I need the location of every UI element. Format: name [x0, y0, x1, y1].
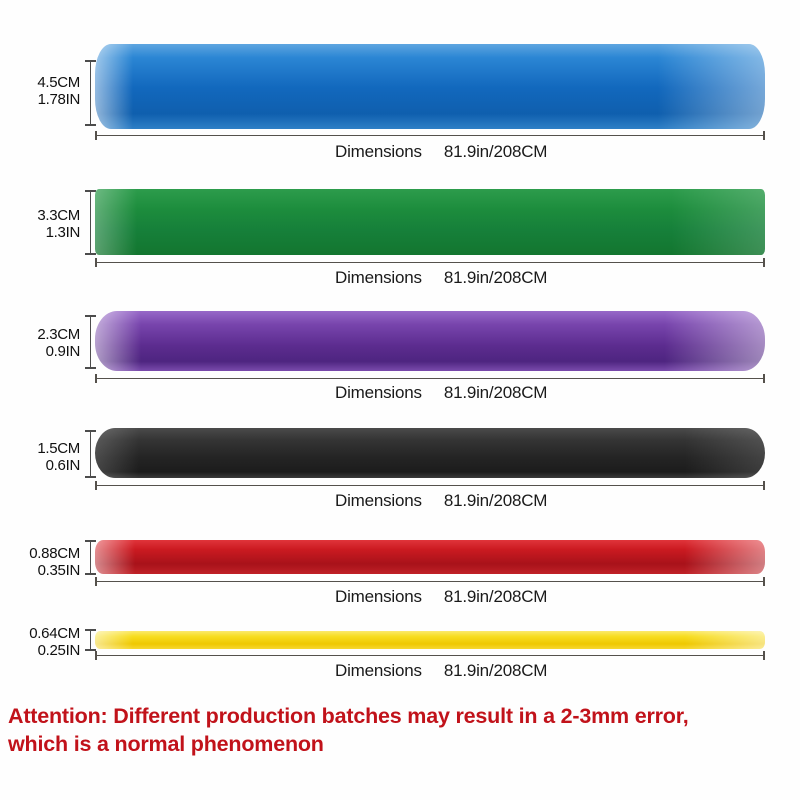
- length-caption-green: Dimensions81.9in/208CM: [335, 268, 547, 288]
- band-row-red: 0.88CM 0.35IN Dimensions81.9in/208CM: [0, 520, 800, 618]
- length-caption-label-red: Dimensions: [335, 587, 422, 606]
- length-caption-label-blue: Dimensions: [335, 142, 422, 161]
- thickness-cm-blue: 4.5CM: [8, 75, 80, 92]
- length-caption-label-purple: Dimensions: [335, 383, 422, 402]
- length-caption-value-black: 81.9in/208CM: [444, 491, 547, 510]
- length-caption-purple: Dimensions81.9in/208CM: [335, 383, 547, 403]
- attention-line-1: Attention: Different production batches …: [8, 702, 798, 730]
- thickness-label-blue: 4.5CM 1.78IN: [8, 75, 80, 109]
- thickness-in-blue: 1.78IN: [8, 92, 80, 109]
- band-row-green: 3.3CM 1.3IN Dimensions81.9in/208CM: [0, 175, 800, 295]
- band-graphic-blue: [95, 44, 765, 129]
- thickness-label-red: 0.88CM 0.35IN: [0, 546, 80, 580]
- band-row-blue: 4.5CM 1.78IN Dimensions81.9in/208CM: [0, 0, 800, 175]
- length-caliper-yellow: [95, 651, 765, 660]
- band-graphic-yellow: [95, 631, 765, 649]
- thickness-cm-green: 3.3CM: [8, 208, 80, 225]
- length-caption-blue: Dimensions81.9in/208CM: [335, 142, 547, 162]
- length-caption-label-green: Dimensions: [335, 268, 422, 287]
- length-caliper-green: [95, 258, 765, 267]
- thickness-cm-purple: 2.3CM: [8, 327, 80, 344]
- thickness-in-red: 0.35IN: [0, 563, 80, 580]
- thickness-in-green: 1.3IN: [8, 225, 80, 242]
- thickness-in-yellow: 0.25IN: [0, 643, 80, 660]
- thickness-label-black: 1.5CM 0.6IN: [8, 441, 80, 475]
- length-caliper-purple: [95, 374, 765, 383]
- thickness-cm-black: 1.5CM: [8, 441, 80, 458]
- thickness-label-purple: 2.3CM 0.9IN: [8, 327, 80, 361]
- length-caliper-black: [95, 481, 765, 490]
- attention-line-2: which is a normal phenomenon: [8, 730, 798, 758]
- band-row-yellow: 0.64CM 0.25IN Dimensions81.9in/208CM: [0, 618, 800, 702]
- band-graphic-black: [95, 428, 765, 478]
- length-caliper-red: [95, 577, 765, 586]
- thickness-label-yellow: 0.64CM 0.25IN: [0, 626, 80, 660]
- thickness-label-green: 3.3CM 1.3IN: [8, 208, 80, 242]
- thickness-cm-yellow: 0.64CM: [0, 626, 80, 643]
- length-caption-value-yellow: 81.9in/208CM: [444, 661, 547, 680]
- thickness-in-black: 0.6IN: [8, 458, 80, 475]
- length-caption-value-blue: 81.9in/208CM: [444, 142, 547, 161]
- band-row-black: 1.5CM 0.6IN Dimensions81.9in/208CM: [0, 410, 800, 520]
- size-chart-canvas: 4.5CM 1.78IN Dimensions81.9in/208CM 3.3C…: [0, 0, 800, 800]
- length-caption-black: Dimensions81.9in/208CM: [335, 491, 547, 511]
- band-row-purple: 2.3CM 0.9IN Dimensions81.9in/208CM: [0, 295, 800, 410]
- length-caption-red: Dimensions81.9in/208CM: [335, 587, 547, 607]
- length-caption-value-red: 81.9in/208CM: [444, 587, 547, 606]
- length-caption-yellow: Dimensions81.9in/208CM: [335, 661, 547, 681]
- length-caliper-blue: [95, 131, 765, 140]
- thickness-in-purple: 0.9IN: [8, 344, 80, 361]
- length-caption-value-purple: 81.9in/208CM: [444, 383, 547, 402]
- length-caption-label-yellow: Dimensions: [335, 661, 422, 680]
- length-caption-value-green: 81.9in/208CM: [444, 268, 547, 287]
- band-graphic-purple: [95, 311, 765, 371]
- attention-notice: Attention: Different production batches …: [8, 702, 798, 759]
- band-graphic-red: [95, 540, 765, 574]
- length-caption-label-black: Dimensions: [335, 491, 422, 510]
- thickness-cm-red: 0.88CM: [0, 546, 80, 563]
- band-graphic-green: [95, 189, 765, 255]
